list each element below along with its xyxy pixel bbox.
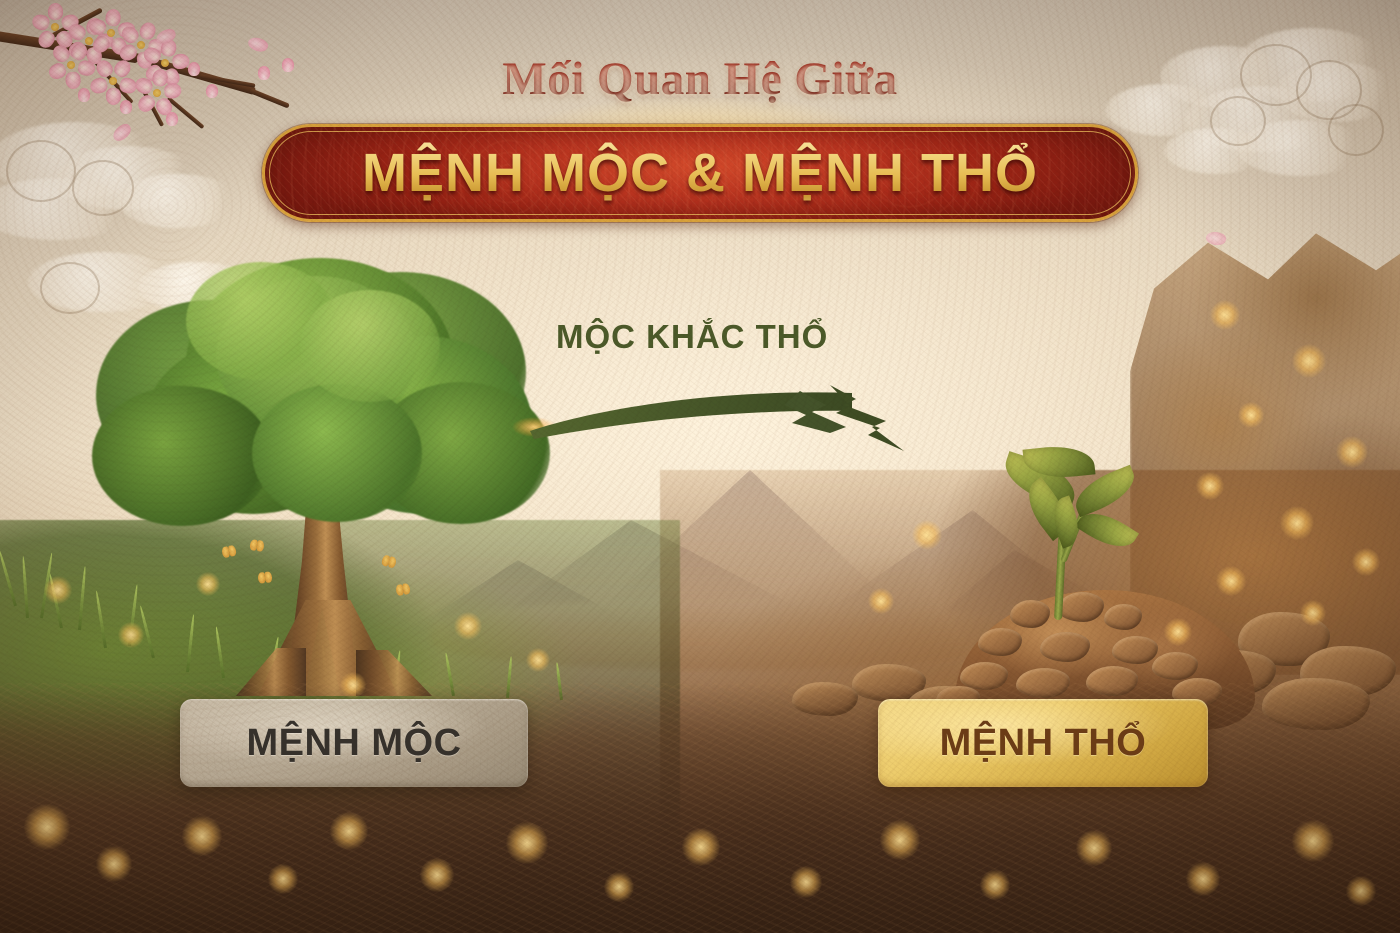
title-banner: MỆNH MỘC & MỆNH THỔ <box>262 124 1138 222</box>
button-menh-tho-label: MỆNH THỔ <box>940 722 1147 765</box>
button-menh-moc-label: MỆNH MỘC <box>246 722 461 765</box>
banner-plate: MỆNH MỘC & MỆNH THỔ <box>262 124 1138 222</box>
infographic-canvas: Mối Quan Hệ Giữa MỆNH MỘC & MỆNH THỔ MỘC… <box>0 0 1400 933</box>
banner-title-text: MỆNH MỘC & MỆNH THỔ <box>265 127 1135 219</box>
